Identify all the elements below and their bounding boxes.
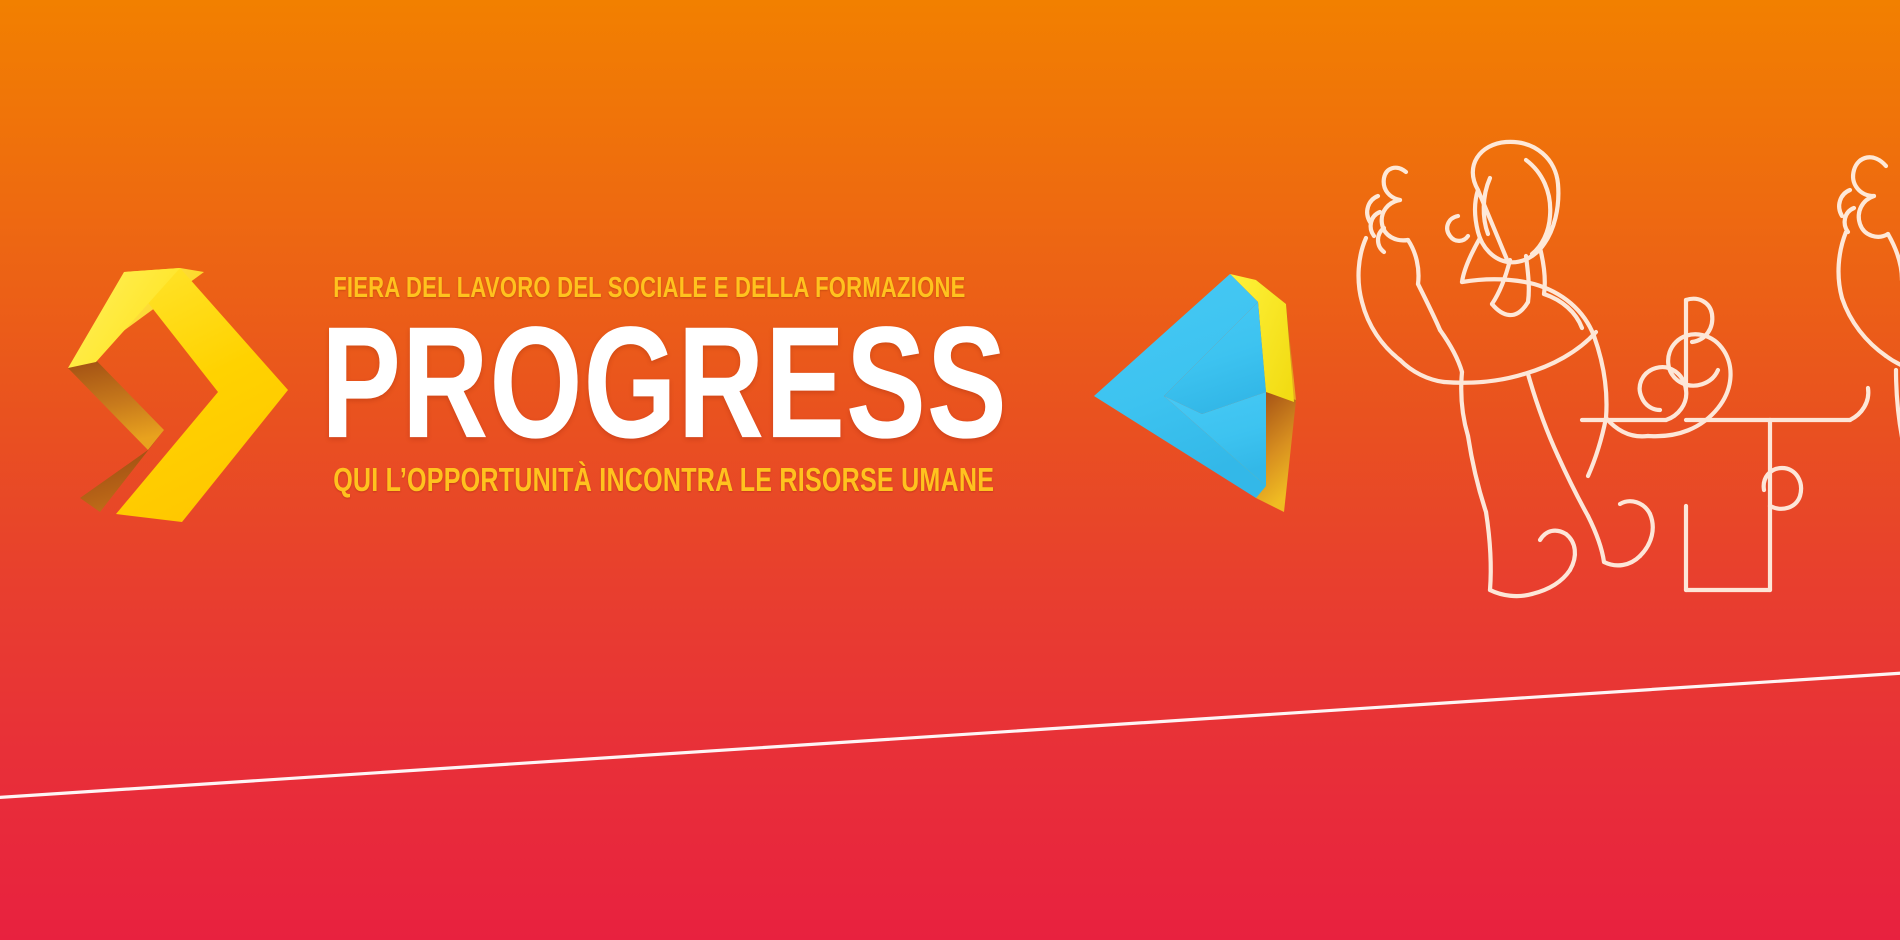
figure-secondary <box>1839 157 1900 464</box>
figure-head <box>1447 142 1558 294</box>
ground-line <box>0 648 1900 828</box>
figure-legs <box>1461 372 1606 590</box>
connector-curve <box>1648 334 1731 436</box>
logo-lockup: FIERA DEL LAVORO DEL SOCIALE E DELLA FOR… <box>52 250 1342 550</box>
figure-shoes <box>1490 501 1653 596</box>
figure-thumbs-up-arm <box>1359 168 1462 382</box>
puzzle-piece <box>1582 299 1868 590</box>
line-art-illustration <box>1330 120 1900 640</box>
progress-event-banner: FIERA DEL LAVORO DEL SOCIALE E DELLA FOR… <box>0 0 1900 940</box>
figure-torso <box>1444 256 1648 436</box>
chevron-left-3d-icon <box>1080 250 1330 540</box>
wordmark-progress: PROGRESS <box>321 303 809 462</box>
tagline-bottom: QUI L’OPPORTUNITÀ INCONTRA LE RISORSE UM… <box>333 462 797 498</box>
wordmark-block: FIERA DEL LAVORO DEL SOCIALE E DELLA FOR… <box>260 272 870 498</box>
